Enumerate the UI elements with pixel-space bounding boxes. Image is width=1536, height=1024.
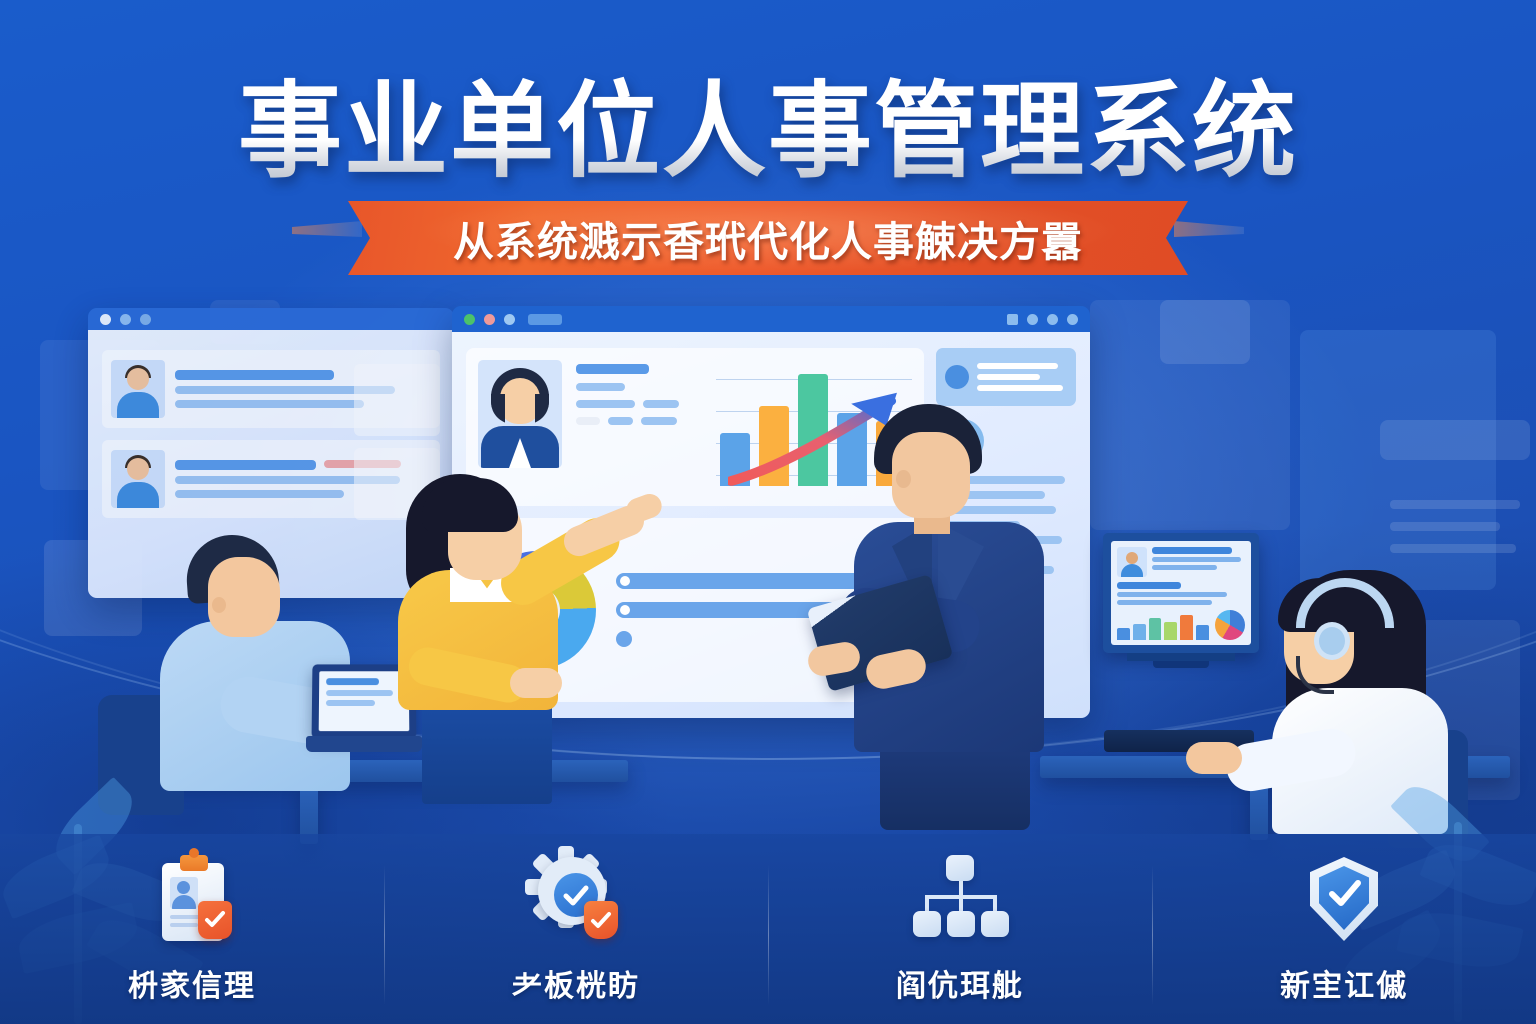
feature-item-approval[interactable]: 耂板桄眆: [384, 853, 768, 1005]
avatar: [111, 450, 165, 508]
bar: [1180, 615, 1193, 641]
window-dot-icon[interactable]: [140, 314, 151, 325]
title-block: 事业单位人事管理系统: [0, 76, 1536, 186]
bar: [1133, 624, 1146, 641]
shield-check-icon: [1296, 853, 1392, 945]
standing-woman-presenter: [398, 460, 658, 800]
bar: [1164, 622, 1177, 640]
standing-man-tablet: [840, 404, 1070, 824]
window-dot-icon[interactable]: [484, 314, 495, 325]
page-subtitle: 从系统溅示香玳代化人事觫决方囂: [348, 201, 1188, 275]
bar: [1117, 628, 1130, 640]
avatar: [111, 360, 165, 418]
address-bar[interactable]: [528, 314, 562, 325]
clipboard-id-check-icon: [144, 853, 240, 945]
page-title: 事业单位人事管理系统: [0, 76, 1536, 186]
monitor-neck: [1127, 653, 1235, 661]
bar: [1196, 625, 1209, 640]
gear-check-shield-icon: [528, 853, 624, 945]
window-titlebar: [88, 308, 454, 330]
side-card[interactable]: [354, 364, 440, 436]
monitor-profile-row: [1117, 547, 1245, 577]
org-chart-icon: [912, 853, 1008, 945]
monitor-content: [1111, 541, 1251, 645]
feature-bar: 枡豙信理 耂板桄眆: [0, 834, 1536, 1024]
window-dot-icon[interactable]: [120, 314, 131, 325]
window-dot-icon[interactable]: [504, 314, 515, 325]
subtitle-ribbon: 从系统溅示香玳代化人事觫决方囂: [348, 201, 1188, 275]
window-control-icon[interactable]: [1027, 314, 1038, 325]
window-dot-icon[interactable]: [464, 314, 475, 325]
pie-chart: [1215, 610, 1245, 640]
highlight-card[interactable]: [936, 348, 1076, 406]
bar: [1149, 618, 1162, 640]
avatar: [478, 360, 562, 468]
support-agent-monitor[interactable]: [1103, 533, 1259, 681]
window-control-icon[interactable]: [1067, 314, 1078, 325]
monitor-screen: [1103, 533, 1259, 653]
feature-item-security[interactable]: 新宔讧傶: [1152, 853, 1536, 1005]
poster-canvas: 事业单位人事管理系统 从系统溅示香玳代化人事觫决方囂: [0, 0, 1536, 1024]
user-dot-icon: [945, 365, 969, 389]
monitor-text-lines: [1117, 582, 1245, 605]
window-control-icon[interactable]: [1047, 314, 1058, 325]
window-titlebar: [452, 306, 1090, 332]
window-control-icon[interactable]: [1007, 314, 1018, 325]
avatar: [1117, 547, 1147, 577]
feature-label: 耂板桄眆: [512, 961, 640, 1005]
feature-item-org[interactable]: 阎伉珥舭: [768, 853, 1152, 1005]
bar-chart: [1117, 610, 1209, 640]
feature-item-archive[interactable]: 枡豙信理: [0, 853, 384, 1005]
feature-label: 阎伉珥舭: [896, 961, 1024, 1005]
monitor-stand: [1153, 661, 1209, 668]
feature-label: 枡豙信理: [128, 961, 256, 1005]
window-dot-icon[interactable]: [100, 314, 111, 325]
feature-label: 新宔讧傶: [1280, 961, 1408, 1005]
